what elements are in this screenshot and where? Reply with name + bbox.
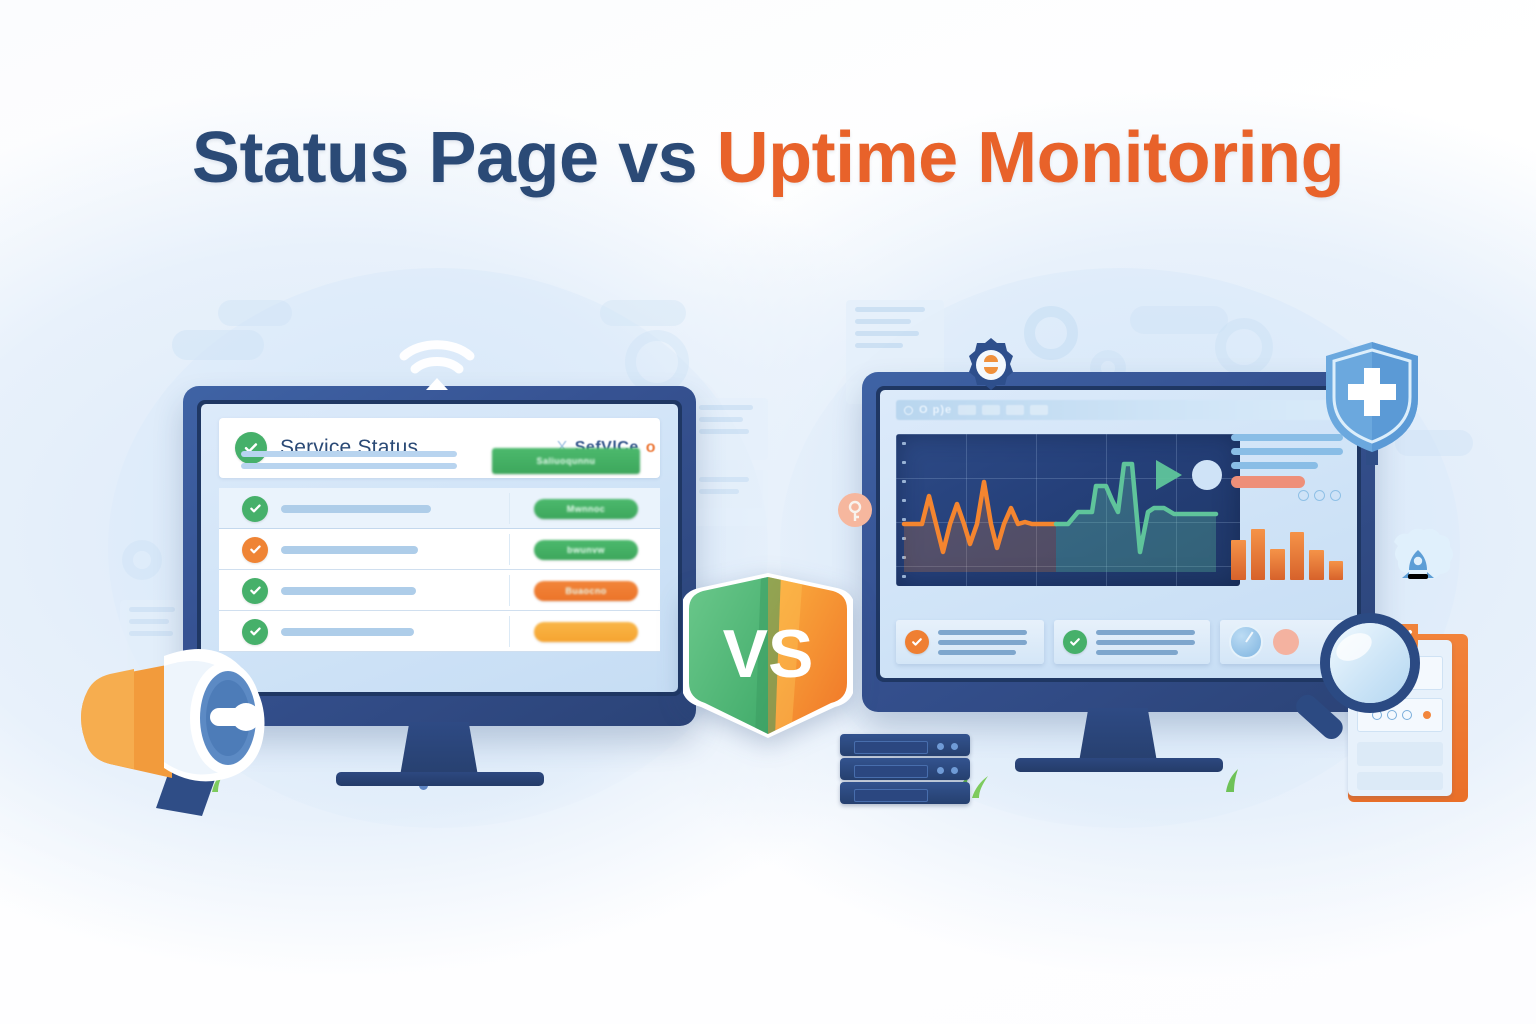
card-text-line [1096,630,1195,635]
illustration-canvas: Status Page vs Uptime Monitoring [0,0,1536,1024]
browser-tab-segment [958,405,976,415]
row-label-bar [281,505,431,513]
status-badge[interactable]: Mwnnoc [534,499,638,519]
gauge-icon [1229,625,1263,659]
server-led-icon [937,743,944,750]
side-bar-chart [1231,518,1343,580]
side-panel-line [1231,462,1318,469]
server-stack-icon [840,782,970,804]
server-stack-icon [840,734,970,756]
card-text-line [1096,650,1178,655]
server-drive-slot [854,741,928,754]
status-badge[interactable] [534,622,638,642]
chart-series-svg [896,434,1240,586]
browser-address-bar[interactable]: O p)e [896,400,1341,420]
browser-url-text: O p)e [919,404,952,416]
monitor-stand-base [336,772,544,786]
check-circle-icon [1063,630,1087,654]
browser-tab-segment [982,405,1000,415]
bg-document-card [690,470,768,526]
table-row[interactable]: ? bwunvw [219,529,660,570]
check-circle-icon [242,496,268,522]
status-badge[interactable]: Buaocno [534,581,638,601]
cloud-icon [172,330,264,360]
row-label-bar [281,587,416,595]
server-drive-slot [854,789,928,802]
monitor-stand-neck [1079,708,1157,762]
shield-cross-icon [1322,340,1422,465]
row-divider [509,534,510,565]
card-text-line [938,650,1016,655]
browser-tab-segment [1006,405,1024,415]
bg-document-card [690,398,768,460]
check-circle-icon [242,537,268,563]
table-row[interactable]: ? Mwnnoc [219,488,660,529]
gear-icon [122,540,162,580]
server-led-icon [951,743,958,750]
key-icon [838,488,872,538]
wifi-icon [398,340,476,396]
status-card[interactable] [1054,620,1210,664]
server-drive-slot [854,765,928,778]
latency-chart [896,434,1240,586]
uptime-monitoring-screen: O p)e [880,390,1357,678]
cloud-icon [1130,306,1228,334]
row-divider [509,616,510,647]
gear-icon [625,330,689,394]
side-panel-alert-pill [1231,476,1305,488]
title-dark-part: Status Page vs [192,118,717,198]
card-text-line [1096,640,1195,645]
title-orange-part: Uptime Monitoring [717,118,1344,198]
status-badge[interactable]: bwunvw [534,540,638,560]
server-stack-icon [840,758,970,780]
browser-tab-segment [1030,405,1048,415]
megaphone-icon [60,628,320,818]
card-text-line [938,630,1027,635]
server-led-icon [937,767,944,774]
rocket-icon [1378,528,1458,602]
check-circle-icon [905,630,929,654]
server-led-icon [951,767,958,774]
card-text-line [938,640,1027,645]
status-card[interactable] [896,620,1044,664]
side-panel-status-dots [1298,490,1341,501]
row-divider [509,575,510,606]
status-button[interactable]: Saliuoqunnu [492,448,640,474]
cloud-icon [600,300,686,326]
gear-icon [962,336,1020,394]
page-title: Status Page vs Uptime Monitoring [0,122,1536,194]
header-placeholder-lines [241,451,457,475]
vs-badge-label: VS [723,616,814,692]
vs-badge: VS [683,573,853,738]
row-label-bar [281,546,418,554]
grass-decoration [1222,766,1266,792]
monitor-stand-neck [400,722,478,776]
gear-icon [1024,306,1078,360]
browser-reload-icon [904,406,913,415]
chart-status-dot-icon [1192,460,1222,490]
table-row[interactable]: ? Buaocno [219,570,660,611]
brand-dot: o [646,439,656,457]
play-triangle-icon[interactable] [1156,460,1182,490]
cloud-icon [218,300,292,326]
gear-icon [1215,318,1273,376]
check-circle-icon [242,578,268,604]
row-divider [509,493,510,524]
magnifier-icon [1288,605,1428,755]
monitor-stand-base [1015,758,1223,772]
